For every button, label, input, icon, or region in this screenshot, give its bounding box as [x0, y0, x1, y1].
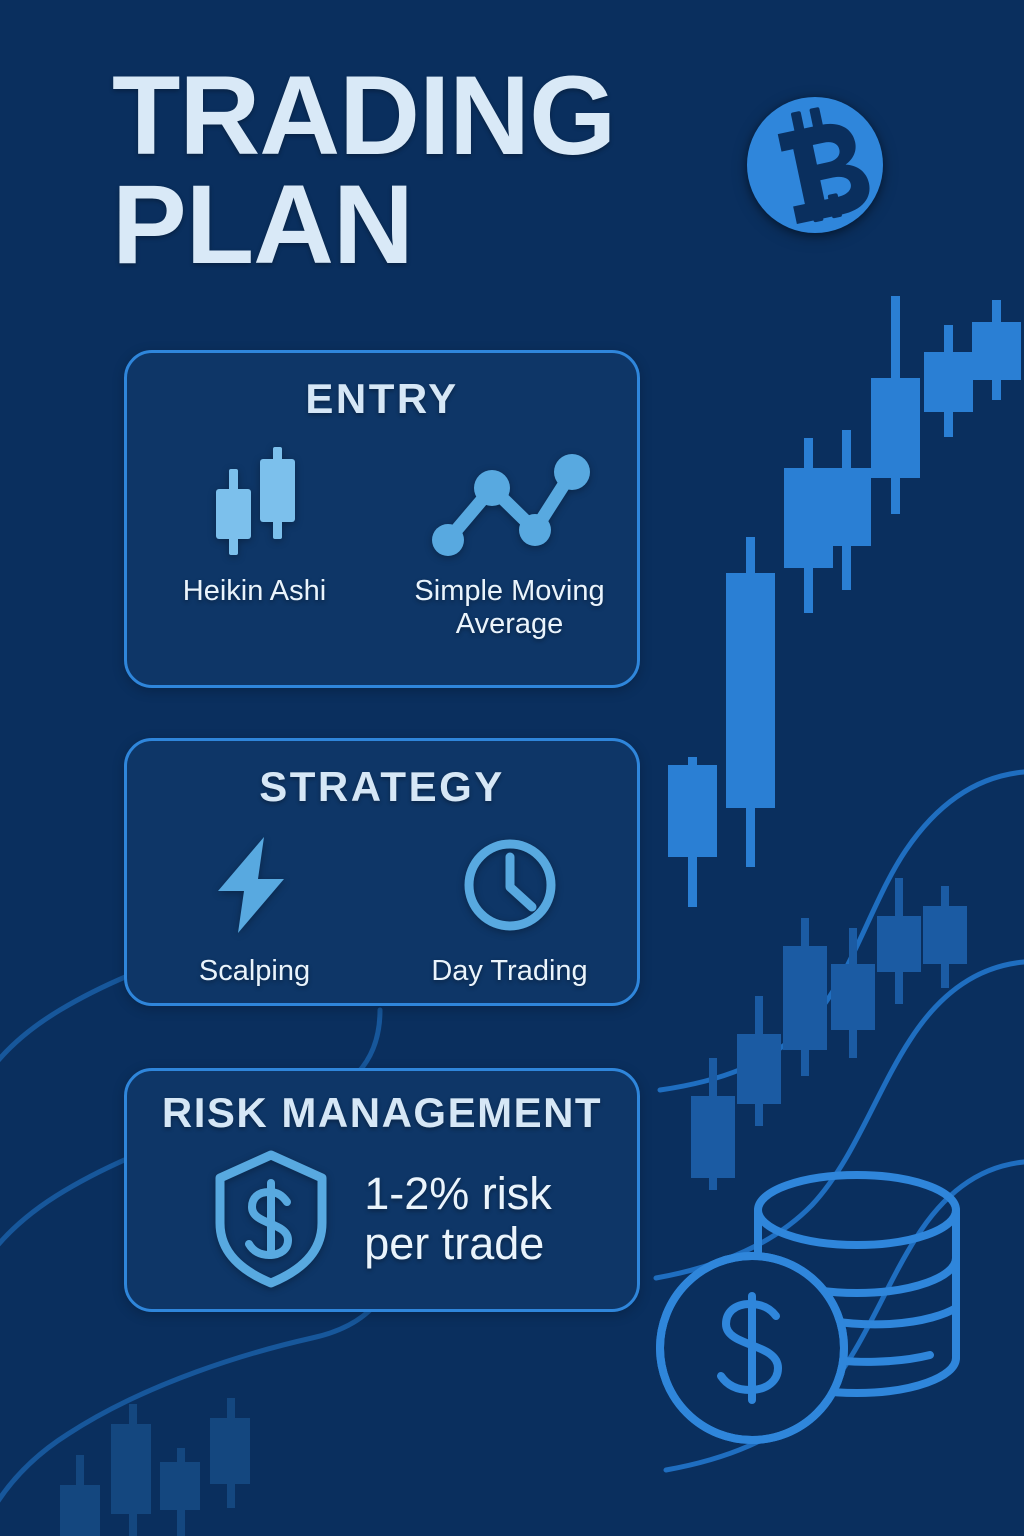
entry-item-heikin-ashi[interactable]: Heikin Ashi: [137, 445, 372, 608]
card-risk-content: 1-2% risk per trade: [127, 1149, 637, 1289]
card-entry-title: ENTRY: [127, 375, 637, 423]
entry-item-label-0: Heikin Ashi: [183, 575, 326, 608]
candlestick-icon: [190, 445, 320, 565]
entry-item-label-1: Simple Moving Average: [392, 575, 627, 642]
candlestick-chart-bright: [668, 296, 1021, 907]
risk-value-line-1: 1-2% risk: [364, 1169, 552, 1219]
page-title: TRADING PLAN: [112, 62, 615, 279]
card-strategy-title: STRATEGY: [127, 763, 637, 811]
line-chart-icon: [430, 445, 590, 565]
card-entry[interactable]: ENTRY Heikin Ashi: [124, 350, 640, 688]
poster-canvas: .ma { fill:none; stroke:#1f6ec0; stroke-…: [0, 0, 1024, 1536]
lightning-bolt-icon: [212, 833, 298, 937]
strategy-item-label-0: Scalping: [199, 955, 310, 988]
card-risk-title: RISK MANAGEMENT: [127, 1089, 637, 1137]
clock-icon: [460, 833, 560, 937]
strategy-item-scalping[interactable]: Scalping: [137, 833, 372, 988]
risk-value-line-2: per trade: [364, 1219, 552, 1269]
bitcoin-icon: [745, 95, 885, 235]
entry-item-simple-moving-average[interactable]: Simple Moving Average: [392, 445, 627, 642]
card-risk[interactable]: RISK MANAGEMENT 1-2% risk per trade: [124, 1068, 640, 1312]
card-strategy-items: Scalping Day Trading: [127, 833, 637, 988]
strategy-item-day-trading[interactable]: Day Trading: [392, 833, 627, 988]
shield-dollar-icon: [212, 1149, 330, 1289]
title-line-2: PLAN: [112, 171, 615, 280]
risk-value: 1-2% risk per trade: [364, 1169, 552, 1270]
card-strategy[interactable]: STRATEGY Scalping Day Trading: [124, 738, 640, 1006]
candlestick-chart-dim: [691, 878, 967, 1190]
title-line-1: TRADING: [112, 62, 615, 171]
coin-stack-icon: [660, 1175, 956, 1440]
card-entry-items: Heikin Ashi: [127, 445, 637, 642]
strategy-item-label-1: Day Trading: [431, 955, 587, 988]
